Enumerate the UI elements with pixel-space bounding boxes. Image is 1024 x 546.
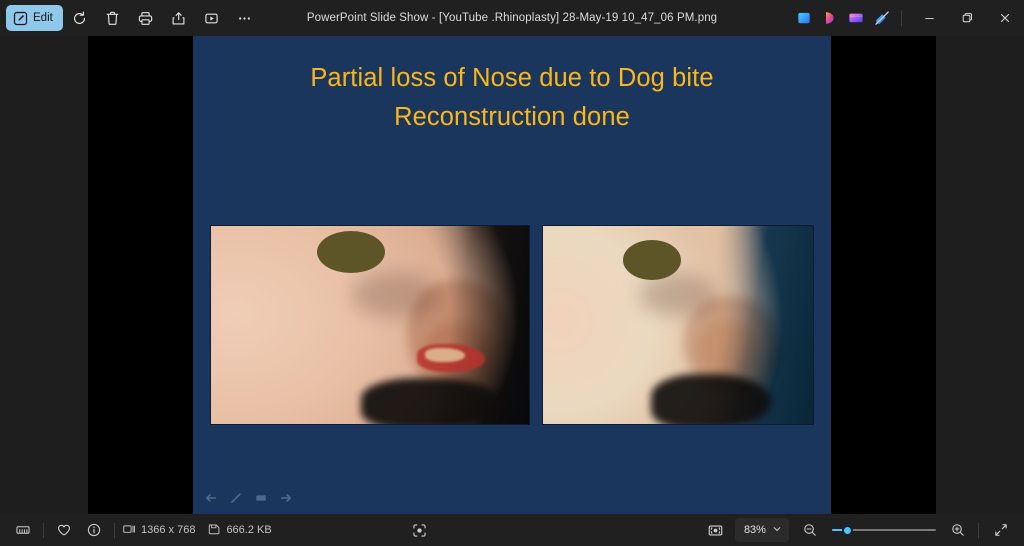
canvas-letterbox-right (936, 36, 1024, 514)
status-bar-center (405, 517, 435, 543)
image-dimensions: 1366 x 768 (122, 522, 195, 539)
erase-icon[interactable] (869, 5, 895, 31)
toolbar-divider (901, 10, 902, 26)
photo-preop-wound-tissue (425, 348, 465, 362)
slideshow-pen-icon[interactable] (229, 491, 243, 505)
fit-screen-icon (707, 522, 724, 539)
print-icon (137, 10, 154, 27)
slideshow-button[interactable] (195, 4, 228, 32)
status-bar-left: 1366 x 768 666.2 KB (8, 517, 272, 543)
slideshow-menu-icon[interactable] (254, 491, 268, 505)
photos-viewer-window: Edit (0, 0, 1024, 546)
fullscreen-button[interactable] (986, 517, 1016, 543)
dimensions-icon (122, 522, 136, 539)
slide-title-line-2: Reconstruction done (223, 98, 801, 137)
file-size: 666.2 KB (207, 522, 271, 539)
photos-edit-icon[interactable] (791, 5, 817, 31)
save-disk-icon (207, 522, 221, 539)
image-text-actions-button[interactable] (405, 517, 435, 543)
more-options-button[interactable] (228, 4, 261, 32)
slideshow-nav-overlay (204, 491, 293, 505)
close-button[interactable] (986, 1, 1024, 35)
file-size-value: 666.2 KB (226, 524, 271, 536)
chevron-down-icon (772, 524, 782, 537)
zoom-slider-handle[interactable] (842, 525, 853, 536)
window-controls-area (791, 0, 1024, 36)
designer-icon[interactable] (817, 5, 843, 31)
favorite-button[interactable] (49, 517, 79, 543)
slide-photos (193, 225, 831, 425)
heart-icon (56, 522, 72, 538)
image-frame: Partial loss of Nose due to Dog bite Rec… (88, 36, 936, 514)
zoom-slider[interactable] (832, 521, 936, 539)
zoom-out-button[interactable] (795, 517, 825, 543)
zoom-in-button[interactable] (943, 517, 973, 543)
zoom-out-icon (802, 522, 818, 538)
minimize-button[interactable] (910, 1, 948, 35)
status-divider-2 (114, 523, 115, 538)
photo-preop-privacy-bar (317, 231, 385, 273)
photo-postop (542, 225, 814, 425)
status-bar: 1366 x 768 666.2 KB (0, 514, 1024, 546)
photo-preop (210, 225, 530, 425)
canvas-letterbox-left (0, 36, 88, 514)
rotate-button[interactable] (63, 4, 96, 32)
fit-to-window-button[interactable] (701, 517, 731, 543)
maximize-button[interactable] (948, 1, 986, 35)
image-canvas[interactable]: Partial loss of Nose due to Dog bite Rec… (0, 36, 1024, 514)
play-box-icon (203, 10, 220, 27)
filmstrip-icon (15, 522, 31, 538)
slide-title: Partial loss of Nose due to Dog bite Rec… (193, 59, 831, 137)
photo-preop-beard (361, 378, 501, 425)
rotate-icon (71, 10, 88, 27)
status-bar-right: 83% (701, 517, 1016, 543)
expand-icon (993, 522, 1009, 538)
toolbar: Edit (0, 4, 261, 32)
status-divider-1 (43, 523, 44, 538)
photo-postop-privacy-bar (623, 240, 681, 280)
trash-icon (104, 10, 121, 27)
zoom-level-value: 83% (744, 524, 766, 536)
zoom-level-select[interactable]: 83% (735, 518, 789, 542)
title-bar: Edit (0, 0, 1024, 36)
scan-text-icon (411, 522, 428, 539)
status-divider-3 (978, 523, 979, 538)
slideshow-next-icon[interactable] (279, 491, 293, 505)
edit-icon (13, 11, 28, 26)
slideshow-previous-icon[interactable] (204, 491, 218, 505)
powerpoint-slide: Partial loss of Nose due to Dog bite Rec… (193, 36, 831, 514)
dimensions-value: 1366 x 768 (141, 524, 195, 536)
file-info-button[interactable] (79, 517, 109, 543)
ellipsis-icon (236, 10, 253, 27)
share-icon (170, 10, 187, 27)
photo-postop-beard (651, 374, 771, 425)
share-button[interactable] (162, 4, 195, 32)
print-button[interactable] (129, 4, 162, 32)
edit-button[interactable]: Edit (6, 5, 63, 31)
delete-button[interactable] (96, 4, 129, 32)
info-icon (86, 522, 102, 538)
filmstrip-button[interactable] (8, 517, 38, 543)
zoom-in-icon (950, 522, 966, 538)
edit-button-label: Edit (33, 12, 53, 24)
clipchamp-icon[interactable] (843, 5, 869, 31)
slide-title-line-1: Partial loss of Nose due to Dog bite (223, 59, 801, 98)
